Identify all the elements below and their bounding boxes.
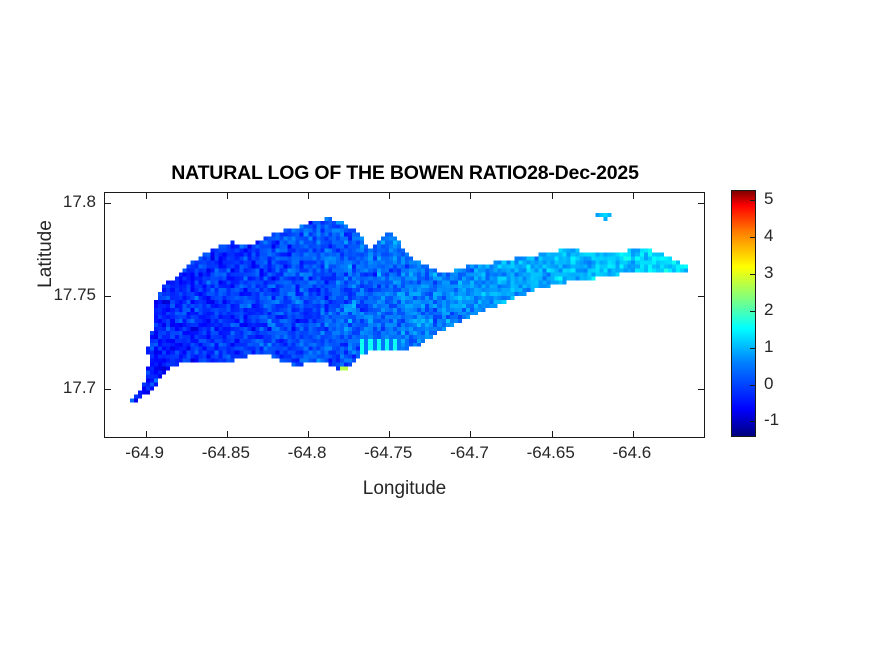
- map-axes: [104, 192, 705, 438]
- x-axis-tick: [633, 193, 634, 199]
- x-axis-tick-label: -64.65: [527, 443, 575, 463]
- x-axis-tick-label: -64.85: [202, 443, 250, 463]
- y-axis-tick: [105, 203, 111, 204]
- colorbar-tick-label: 5: [764, 189, 773, 209]
- colorbar-tick-label: 3: [764, 263, 773, 283]
- page-title: NATURAL LOG OF THE BOWEN RATIO28-Dec-202…: [104, 162, 706, 185]
- y-axis-tick: [105, 389, 111, 390]
- x-axis-tick: [227, 193, 228, 199]
- x-axis-label: Longitude: [104, 478, 705, 500]
- colorbar-tick-label: -1: [764, 410, 779, 430]
- colorbar[interactable]: [731, 190, 756, 437]
- x-axis-tick: [146, 431, 147, 437]
- y-axis-tick-label: 17.7: [63, 378, 96, 398]
- x-axis-tick: [308, 193, 309, 199]
- x-axis-tick: [552, 431, 553, 437]
- y-axis-tick-label: 17.8: [63, 192, 96, 212]
- x-axis-tick: [146, 193, 147, 199]
- x-axis-tick: [552, 193, 553, 199]
- colorbar-tick: [750, 237, 755, 238]
- x-axis-tick: [389, 193, 390, 199]
- x-axis-tick-label: -64.8: [288, 443, 327, 463]
- colorbar-tick-label: 1: [764, 337, 773, 357]
- x-axis-tick-label: -64.6: [613, 443, 652, 463]
- colorbar-tick: [750, 385, 755, 386]
- x-axis-tick-label: -64.9: [125, 443, 164, 463]
- x-axis-tick-label: -64.75: [364, 443, 412, 463]
- x-axis-tick: [308, 431, 309, 437]
- x-axis-tick: [470, 431, 471, 437]
- y-axis-tick-label: 17.75: [53, 285, 96, 305]
- x-axis-tick-label: -64.7: [450, 443, 489, 463]
- y-axis-tick: [698, 296, 704, 297]
- y-axis-tick: [105, 296, 111, 297]
- x-axis-tick: [227, 431, 228, 437]
- colorbar-tick: [750, 348, 755, 349]
- x-axis-tick: [470, 193, 471, 199]
- y-axis-tick: [698, 389, 704, 390]
- bowen-ratio-raster-map: [105, 193, 704, 437]
- colorbar-tick-label: 4: [764, 226, 773, 246]
- y-axis-tick: [698, 203, 704, 204]
- matlab-figure-window: NATURAL LOG OF THE BOWEN RATIO28-Dec-202…: [0, 0, 875, 656]
- colorbar-tick: [750, 200, 755, 201]
- y-axis-label: Latitude: [35, 184, 57, 324]
- x-axis-tick: [633, 431, 634, 437]
- colorbar-tick: [750, 421, 755, 422]
- colorbar-tick: [750, 311, 755, 312]
- colorbar-tick-label: 2: [764, 300, 773, 320]
- colorbar-tick-label: 0: [764, 374, 773, 394]
- x-axis-tick: [389, 431, 390, 437]
- colorbar-tick: [750, 274, 755, 275]
